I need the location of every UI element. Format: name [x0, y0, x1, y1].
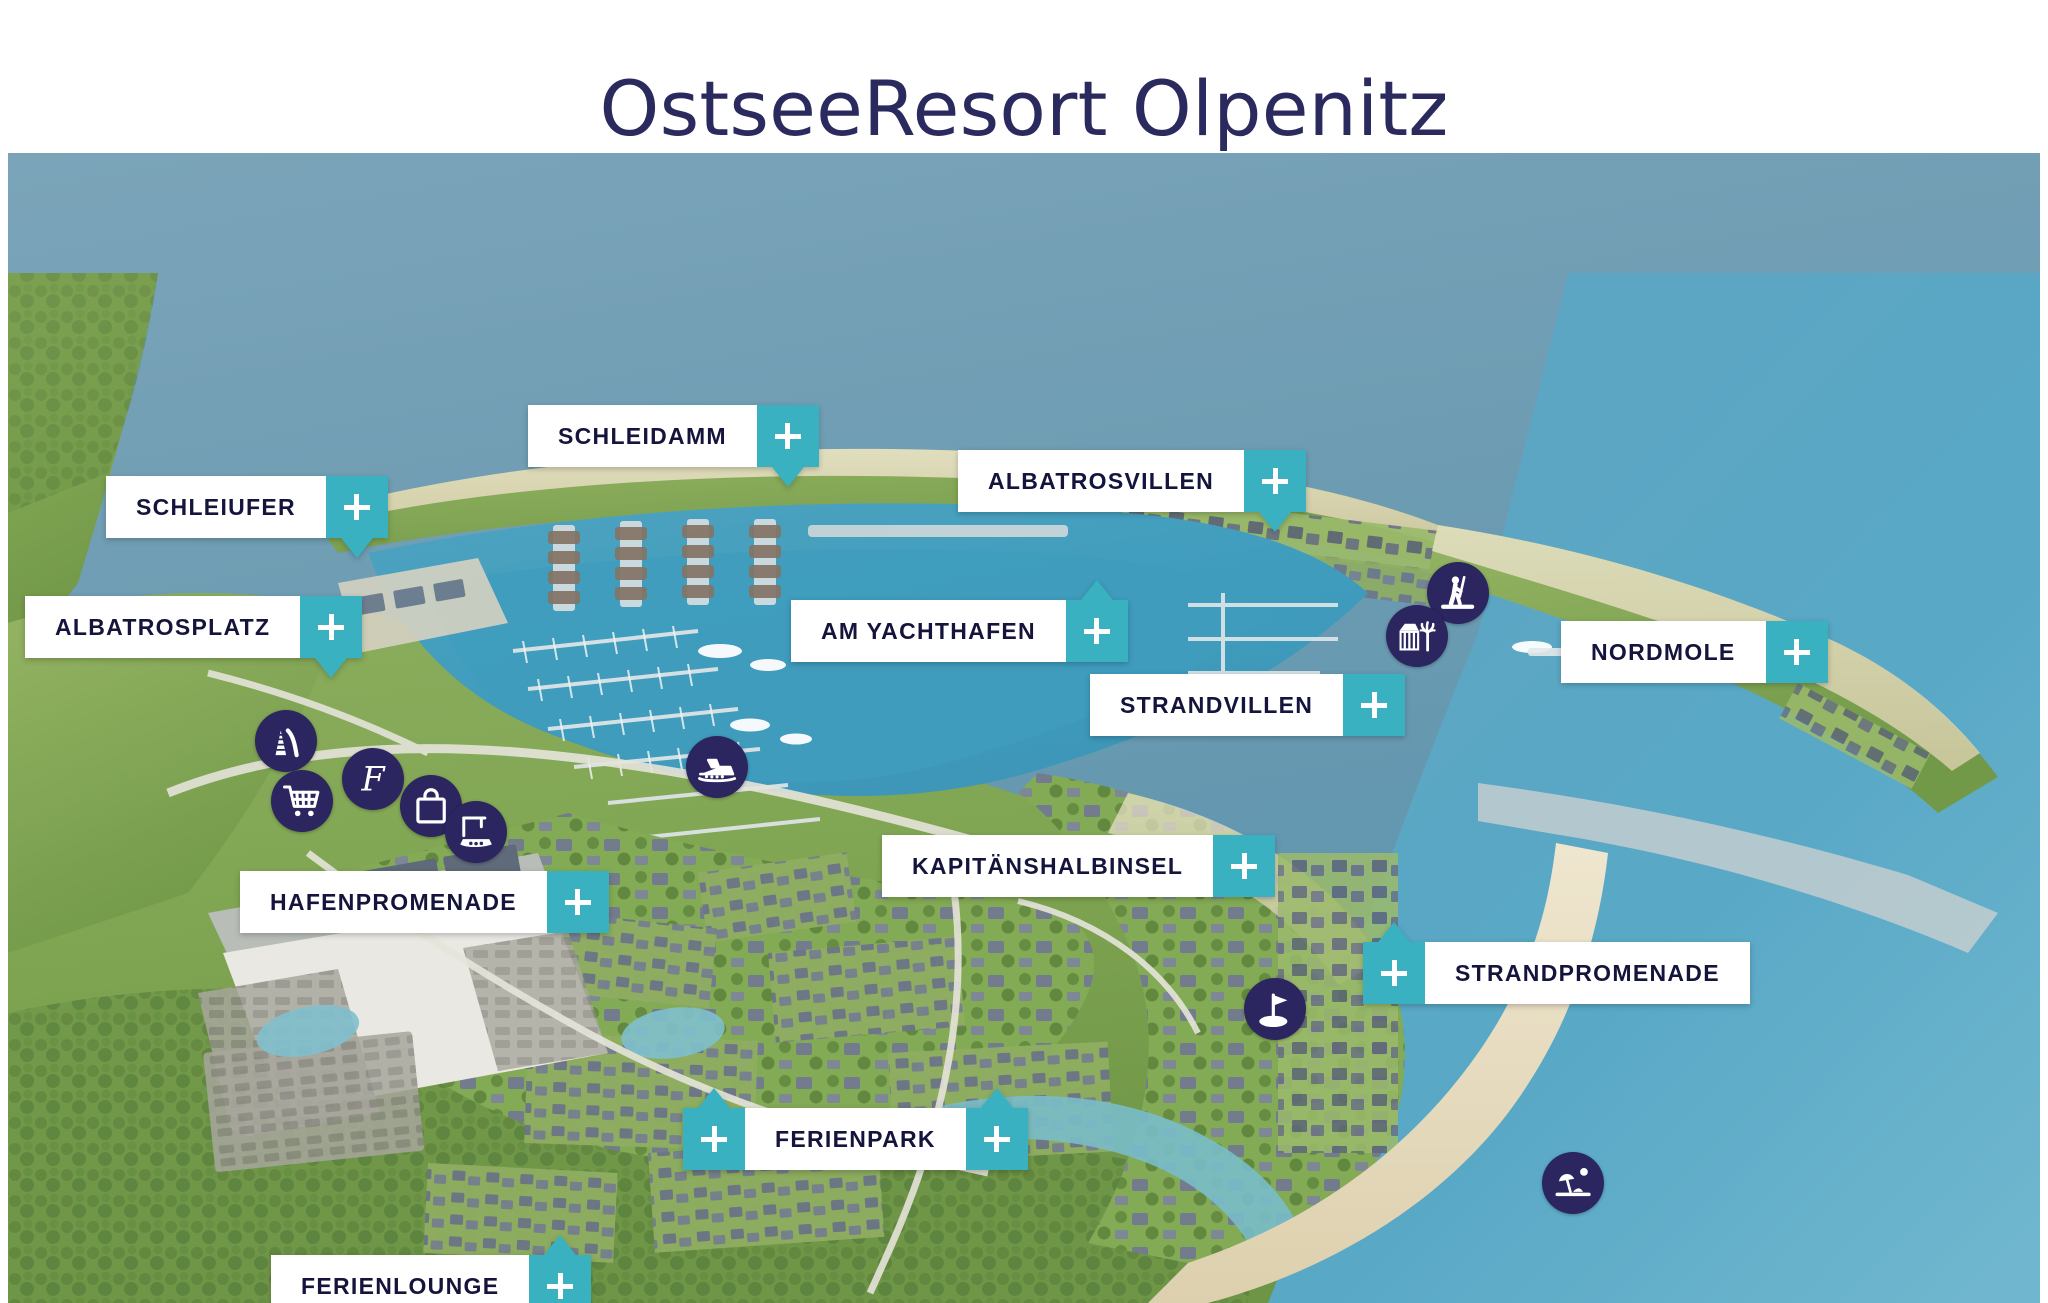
plus-icon[interactable] [683, 1108, 745, 1170]
hotspot-label: ALBATROSVILLEN [958, 450, 1244, 512]
plus-icon[interactable] [1244, 450, 1306, 512]
hotspot-label: KAPITÄNSHALBINSEL [882, 835, 1213, 897]
screenshot-root: OstseeResort Olpenitz [0, 0, 2048, 1303]
hotspot-label: SCHLEIUFER [106, 476, 326, 538]
plus-icon[interactable] [547, 871, 609, 933]
hotspot-label: STRANDPROMENADE [1425, 942, 1750, 1004]
hotspot-hafenpromenade[interactable]: HAFENPROMENADE [240, 871, 609, 933]
plus-icon[interactable] [966, 1108, 1028, 1170]
svg-text:F: F [360, 759, 386, 798]
hotspot-label: ALBATROSPLATZ [25, 596, 300, 658]
page-title: OstseeResort Olpenitz [0, 61, 2048, 156]
plus-marker[interactable] [300, 596, 362, 658]
plus-marker[interactable] [529, 1255, 591, 1303]
hotspot-strandvillen[interactable]: STRANDVILLEN [1090, 674, 1405, 736]
plus-icon[interactable] [300, 596, 362, 658]
water-slide-icon[interactable] [255, 710, 317, 772]
plus-marker[interactable] [326, 476, 388, 538]
hotspot-ferienpark[interactable]: FERIENPARK [683, 1108, 1028, 1170]
hotspot-nordmole[interactable]: NORDMOLE [1561, 621, 1828, 683]
hotspot-schleidamm[interactable]: SCHLEIDAMM [528, 405, 819, 467]
boat-crane-icon[interactable] [445, 801, 507, 863]
plus-marker[interactable] [1363, 942, 1425, 1004]
plus-marker[interactable] [1766, 621, 1828, 683]
hotspot-strandpromenade[interactable]: STRANDPROMENADE [1363, 942, 1750, 1004]
golf-flag-icon[interactable] [1244, 978, 1306, 1040]
plus-icon[interactable] [529, 1255, 591, 1303]
hotspot-label: AM YACHTHAFEN [791, 600, 1066, 662]
hotspot-label: HAFENPROMENADE [240, 871, 547, 933]
plus-marker[interactable] [1066, 600, 1128, 662]
hotspot-ferienlounge[interactable]: FERIENLOUNGE [271, 1255, 591, 1303]
hotspot-am-yachthafen[interactable]: AM YACHTHAFEN [791, 600, 1128, 662]
plus-icon[interactable] [757, 405, 819, 467]
hotspot-label: FERIENPARK [745, 1108, 966, 1170]
shopping-cart-icon[interactable] [271, 770, 333, 832]
plus-icon[interactable] [326, 476, 388, 538]
market-palm-icon[interactable] [1386, 605, 1448, 667]
plus-icon[interactable] [1766, 621, 1828, 683]
plus-marker[interactable] [1343, 674, 1405, 736]
letter-f-icon[interactable]: F [342, 748, 404, 810]
plus-marker-right[interactable] [966, 1108, 1028, 1170]
plus-icon[interactable] [1213, 835, 1275, 897]
plus-marker[interactable] [1244, 450, 1306, 512]
plus-marker-left[interactable] [683, 1108, 745, 1170]
plus-marker[interactable] [547, 871, 609, 933]
resort-map[interactable]: F [8, 153, 2040, 1303]
hotspot-label: SCHLEIDAMM [528, 405, 757, 467]
hotspot-label: STRANDVILLEN [1090, 674, 1343, 736]
motorboat-icon[interactable] [686, 736, 748, 798]
hotspot-schleiufer[interactable]: SCHLEIUFER [106, 476, 388, 538]
plus-marker[interactable] [1213, 835, 1275, 897]
plus-marker[interactable] [757, 405, 819, 467]
plus-icon[interactable] [1363, 942, 1425, 1004]
plus-icon[interactable] [1066, 600, 1128, 662]
beach-parasol-icon[interactable] [1542, 1152, 1604, 1214]
hotspot-kapitaenshalbinsel[interactable]: KAPITÄNSHALBINSEL [882, 835, 1275, 897]
plus-icon[interactable] [1343, 674, 1405, 736]
hotspot-albatrosvillen[interactable]: ALBATROSVILLEN [958, 450, 1306, 512]
hotspot-albatrosplatz[interactable]: ALBATROSPLATZ [25, 596, 362, 658]
hotspot-label: FERIENLOUNGE [271, 1255, 529, 1303]
hotspot-label: NORDMOLE [1561, 621, 1766, 683]
